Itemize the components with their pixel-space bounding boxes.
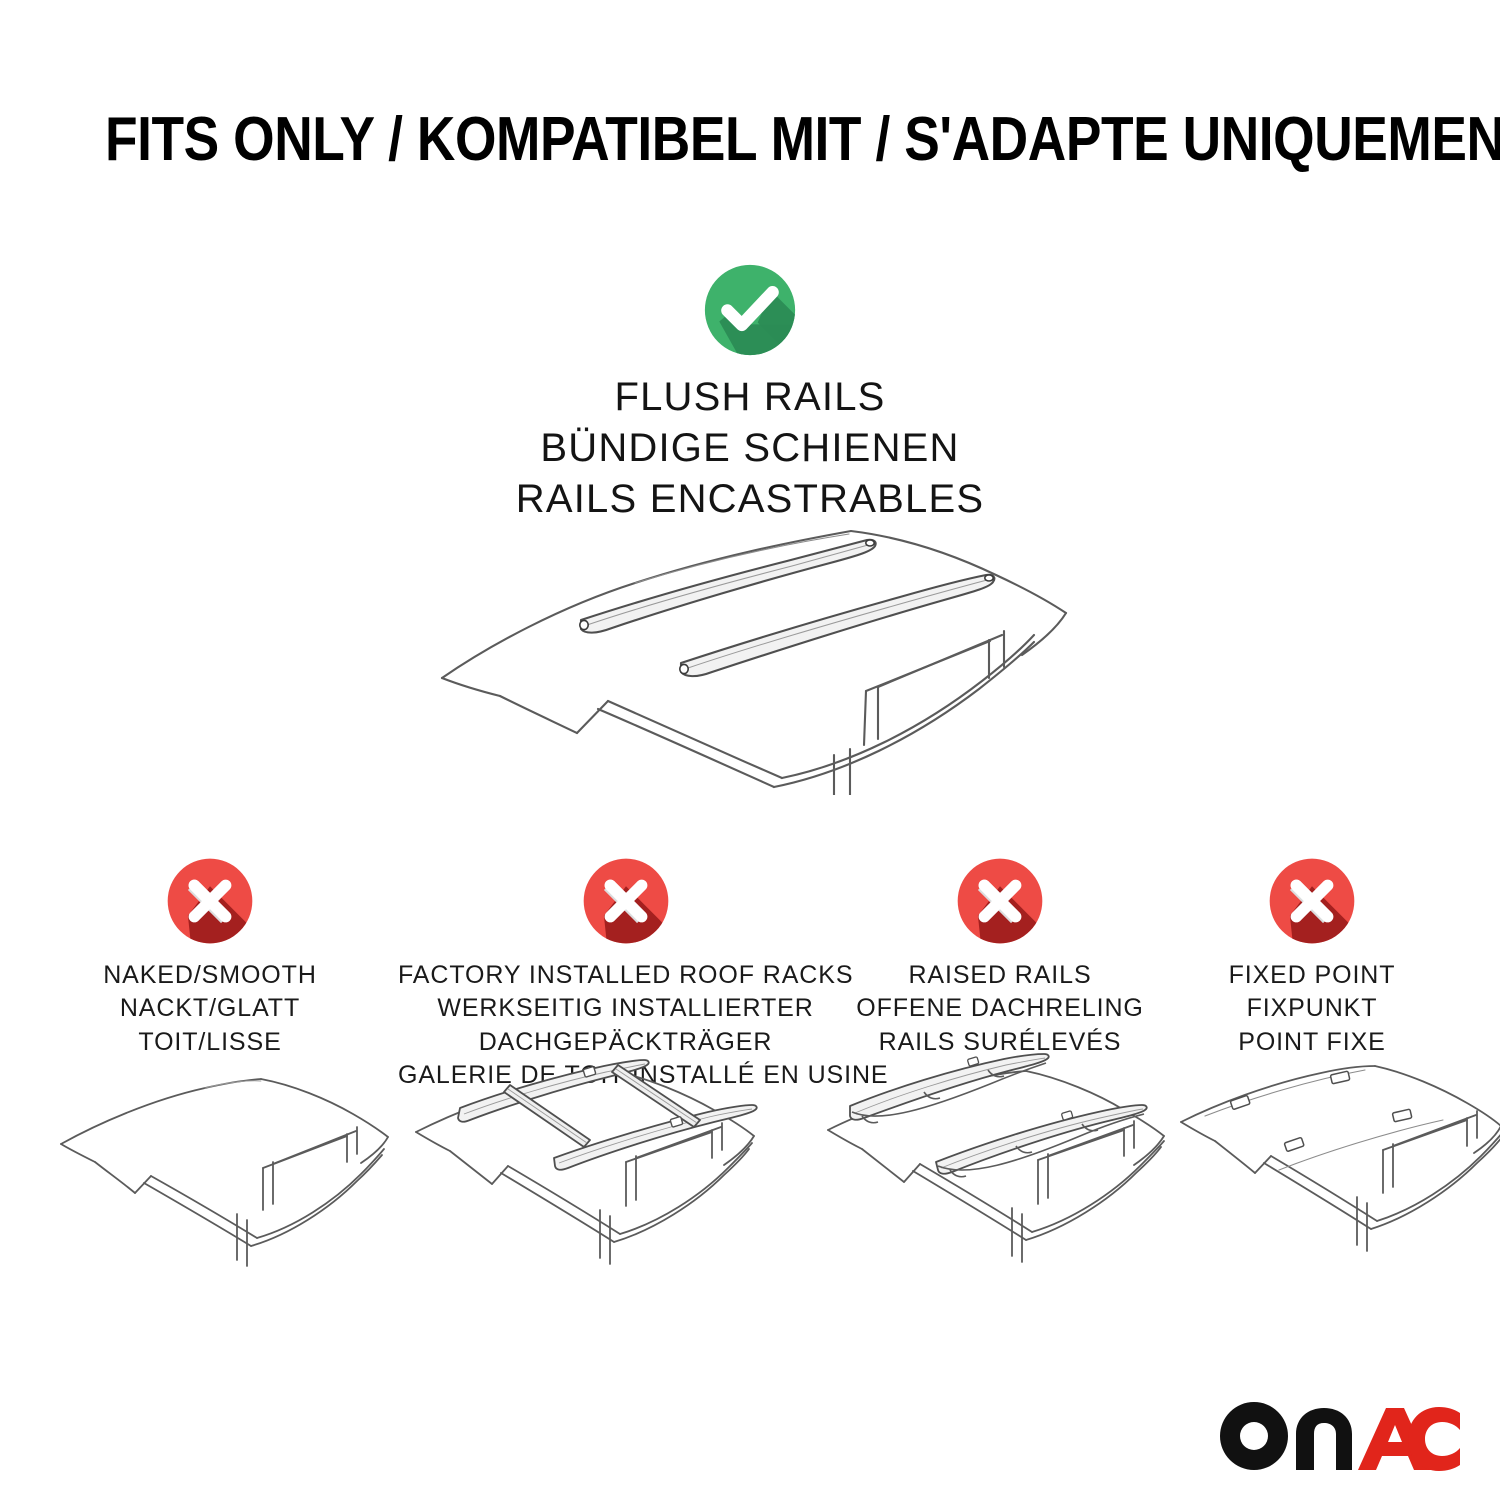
reject-label-en: FIXED POINT: [1178, 959, 1446, 992]
reject-column-raised-rails: RAISED RAILS OFFENE DACHRELING RAILS SUR…: [845, 855, 1155, 1059]
reject-label-en: FACTORY INSTALLED ROOF RACKS: [398, 959, 853, 992]
car-roof-with-fixed-points-illustration: [1175, 1052, 1500, 1282]
car-roof-with-factory-crossbars-illustration: [408, 1052, 798, 1282]
car-roof-bare-illustration: [55, 1052, 400, 1282]
approved-label-en: FLUSH RAILS: [0, 372, 1500, 423]
reject-column-naked-smooth: NAKED/SMOOTH NACKT/GLATT TOIT/LISSE: [60, 855, 360, 1059]
car-roof-with-flush-rails-illustration: [430, 495, 1080, 795]
omac-logo-letter-o: [1220, 1402, 1288, 1470]
omac-logo: [1218, 1400, 1460, 1474]
red-x-circle-icon: [164, 855, 256, 947]
reject-label-group: FIXED POINT FIXPUNKT POINT FIXE: [1178, 959, 1446, 1059]
reject-label-de: NACKT/GLATT: [60, 992, 360, 1025]
red-x-circle-icon: [954, 855, 1046, 947]
reject-label-en: RAISED RAILS: [845, 959, 1155, 992]
reject-label-de: OFFENE DACHRELING: [845, 992, 1155, 1025]
reject-label-de: FIXPUNKT: [1178, 992, 1446, 1025]
approved-section: FLUSH RAILS BÜNDIGE SCHIENEN RAILS ENCAS…: [0, 262, 1500, 526]
page-title: FITS ONLY / KOMPATIBEL MIT / S'ADAPTE UN…: [105, 104, 1395, 175]
reject-column-fixed-point: FIXED POINT FIXPUNKT POINT FIXE: [1178, 855, 1446, 1059]
reject-label-en: NAKED/SMOOTH: [60, 959, 360, 992]
omac-logo-letter-m: [1296, 1408, 1352, 1470]
reject-label-group: NAKED/SMOOTH NACKT/GLATT TOIT/LISSE: [60, 959, 360, 1059]
reject-label-group: RAISED RAILS OFFENE DACHRELING RAILS SUR…: [845, 959, 1155, 1059]
reject-label-de: WERKSEITIG INSTALLIERTER: [398, 992, 853, 1025]
car-roof-with-raised-rails-illustration: [818, 1052, 1208, 1282]
red-x-circle-icon: [580, 855, 672, 947]
approved-label-de: BÜNDIGE SCHIENEN: [0, 423, 1500, 474]
red-x-circle-icon: [1266, 855, 1358, 947]
green-check-circle-icon: [702, 262, 798, 358]
